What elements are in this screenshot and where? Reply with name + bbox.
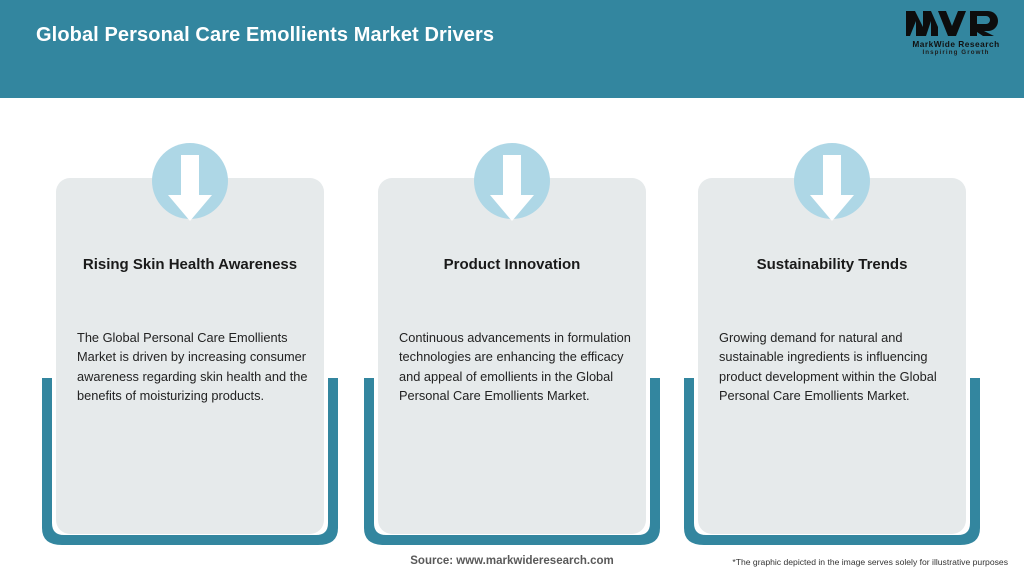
- logo-tagline: Inspiring Growth: [904, 49, 1008, 57]
- page-title: Global Personal Care Emollients Market D…: [36, 24, 494, 47]
- brand-logo: MarkWide Research Inspiring Growth: [904, 8, 1008, 62]
- down-arrow-icon: [474, 143, 550, 233]
- logo-company-name: MarkWide Research: [904, 39, 1008, 49]
- card-badge: [474, 143, 550, 219]
- card-title: Rising Skin Health Awareness: [56, 255, 324, 274]
- card-title: Sustainability Trends: [698, 255, 966, 274]
- mwr-logo-icon: [904, 8, 1008, 38]
- down-arrow-icon: [152, 143, 228, 233]
- infographic-page: Global Personal Care Emollients Market D…: [0, 0, 1024, 576]
- card-body-text: The Global Personal Care Emollients Mark…: [77, 328, 317, 405]
- card-badge: [152, 143, 228, 219]
- disclaimer-label: *The graphic depicted in the image serve…: [732, 557, 1008, 567]
- card-badge: [794, 143, 870, 219]
- down-arrow-icon: [794, 143, 870, 233]
- card-title: Product Innovation: [378, 255, 646, 274]
- header-band: Global Personal Care Emollients Market D…: [0, 0, 1024, 98]
- card-body-text: Continuous advancements in formulation t…: [399, 328, 639, 405]
- card-body-text: Growing demand for natural and sustainab…: [719, 328, 959, 405]
